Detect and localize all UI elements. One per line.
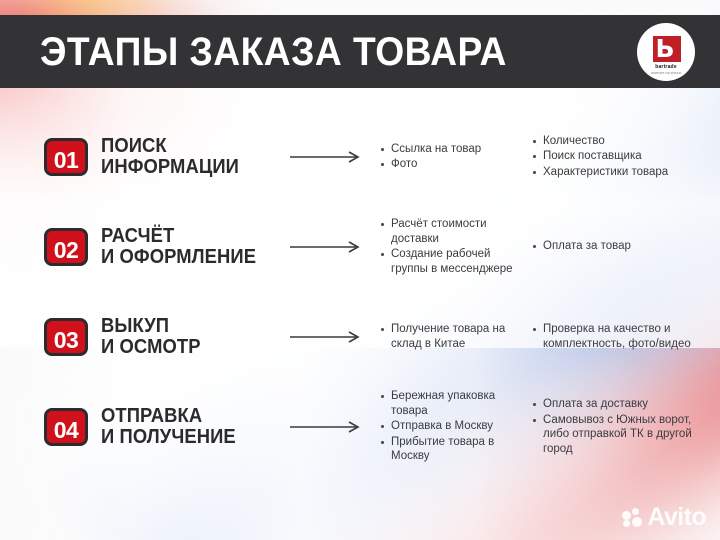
step-row: 03 ВЫКУП И ОСМОТР Получение товара на ск…	[0, 292, 720, 382]
bullet-item: Характеристики товара	[532, 165, 712, 180]
flow-arrow-icon	[288, 150, 364, 164]
step-title-line2: И ОСМОТР	[101, 337, 271, 358]
bullet-item: Оплата за доставку	[532, 397, 712, 412]
bullet-item: Количество	[532, 134, 712, 149]
flow-arrow-icon	[288, 420, 364, 434]
logo-tagline: ИМПОРТ ИЗ КИТАЯ	[649, 71, 683, 75]
step-title-line1: РАСЧЁТ	[101, 226, 271, 247]
step-column-b: Проверка на качество и комплектность, фо…	[532, 322, 712, 352]
bullet-item: Проверка на качество и комплектность, фо…	[532, 322, 712, 351]
bullet-item: Получение товара на склад в Китае	[380, 322, 520, 351]
logo-mark-icon: Ь bartrade ИМПОРТ ИЗ КИТАЯ	[649, 35, 683, 69]
step-title-line2: И ОФОРМЛЕНИЕ	[101, 247, 271, 268]
bullet-item: Поиск поставщика	[532, 149, 712, 164]
step-title-line2: И ПОЛУЧЕНИЕ	[101, 427, 271, 448]
step-row: 02 РАСЧЁТ И ОФОРМЛЕНИЕ Расчёт стоимости …	[0, 202, 720, 292]
page-title: ЭТАПЫ ЗАКАЗА ТОВАРА	[40, 32, 507, 72]
bullet-item: Самовывоз с Южных ворот, либо отправкой …	[532, 413, 712, 457]
bullet-item: Ссылка на товар	[380, 142, 520, 157]
step-title: РАСЧЁТ И ОФОРМЛЕНИЕ	[101, 226, 271, 268]
step-column-a: Получение товара на склад в Китае	[380, 322, 520, 352]
step-column-a: Расчёт стоимости доставки Создание рабоч…	[380, 217, 520, 277]
step-column-a: Ссылка на товар Фото	[380, 142, 520, 173]
bullet-item: Оплата за товар	[532, 239, 712, 254]
step-title: ОТПРАВКА И ПОЛУЧЕНИЕ	[101, 406, 271, 448]
flow-arrow-icon	[288, 240, 364, 254]
step-title: ВЫКУП И ОСМОТР	[101, 316, 271, 358]
flow-arrow-icon	[288, 330, 364, 344]
brand-logo: Ь bartrade ИМПОРТ ИЗ КИТАЯ	[637, 23, 695, 81]
step-number-badge: 01	[44, 138, 88, 176]
bullet-item: Фото	[380, 157, 520, 172]
step-number-badge: 04	[44, 408, 88, 446]
avito-watermark: Avito	[622, 505, 706, 530]
step-number-badge: 03	[44, 318, 88, 356]
step-title-line2: ИНФОРМАЦИИ	[101, 157, 271, 178]
avito-dots-icon	[622, 508, 644, 528]
bullet-item: Отправка в Москву	[380, 419, 520, 434]
step-column-b: Оплата за доставку Самовывоз с Южных вор…	[532, 397, 712, 457]
bullet-item: Расчёт стоимости доставки	[380, 217, 520, 246]
steps-list: 01 ПОИСК ИНФОРМАЦИИ Ссылка на товар Фото…	[0, 112, 720, 472]
avito-wordmark: Avito	[647, 505, 706, 530]
bullet-item: Прибытие товара в Москву	[380, 435, 520, 464]
step-title-line1: ОТПРАВКА	[101, 406, 271, 427]
step-number-badge: 02	[44, 228, 88, 266]
step-title: ПОИСК ИНФОРМАЦИИ	[101, 136, 271, 178]
step-row: 01 ПОИСК ИНФОРМАЦИИ Ссылка на товар Фото…	[0, 112, 720, 202]
step-column-b: Количество Поиск поставщика Характеристи…	[532, 134, 712, 181]
step-column-a: Бережная упаковка товара Отправка в Моск…	[380, 389, 520, 465]
logo-brand-name: bartrade	[649, 65, 683, 70]
step-row: 04 ОТПРАВКА И ПОЛУЧЕНИЕ Бережная упаковк…	[0, 382, 720, 472]
step-title-line1: ПОИСК	[101, 136, 271, 157]
logo-letter: Ь	[654, 37, 676, 61]
step-title-line1: ВЫКУП	[101, 316, 271, 337]
infographic-poster: ЭТАПЫ ЗАКАЗА ТОВАРА Ь bartrade ИМПОРТ ИЗ…	[0, 0, 720, 540]
step-column-b: Оплата за товар	[532, 239, 712, 255]
bullet-item: Создание рабочей группы в мессенджере	[380, 247, 520, 276]
header-bar: ЭТАПЫ ЗАКАЗА ТОВАРА Ь bartrade ИМПОРТ ИЗ…	[0, 15, 720, 88]
bullet-item: Бережная упаковка товара	[380, 389, 520, 418]
